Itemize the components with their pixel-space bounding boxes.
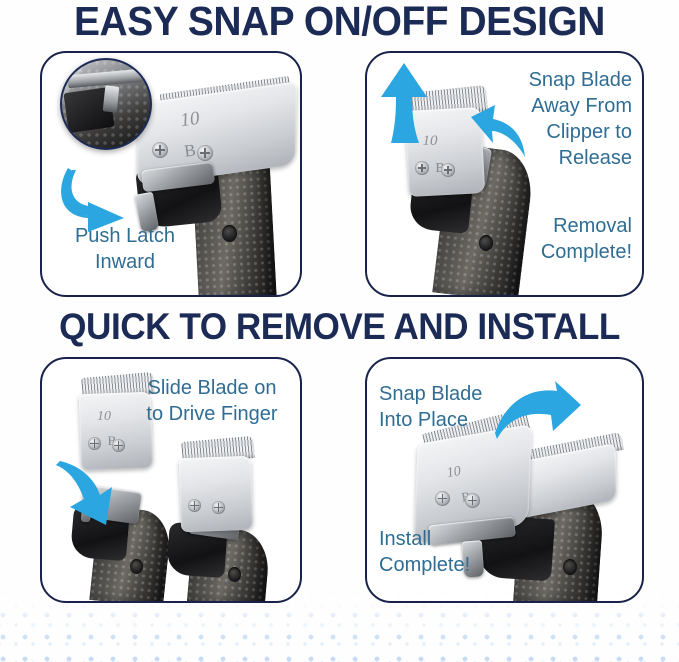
- blade-screw-right-1: [188, 499, 201, 512]
- magnifier-inset-latch-detail: [60, 58, 152, 150]
- blade-screw-left-1: [88, 437, 101, 450]
- caption-snap-blade-away: Snap Blade Away From Clipper to Release: [486, 67, 632, 171]
- inset-latch-tip: [103, 85, 120, 112]
- clipper-screw-hole-right: [228, 567, 241, 582]
- blade-screw-left: [435, 491, 450, 506]
- page-title-middle: QUICK TO REMOVE AND INSTALL: [17, 306, 662, 348]
- panel-snap-blade-into-place: 10 B Snap Blade Into Place Install Compl…: [365, 357, 644, 603]
- blade-screw-left: [415, 161, 429, 175]
- blade-screw-right: [441, 163, 455, 177]
- blade-screw-right: [197, 145, 213, 161]
- caption-slide-blade-on: Slide Blade on to Drive Finger: [132, 375, 292, 427]
- photo-slide-blade: 10 B Slide Blade on to Drive Finger: [42, 359, 300, 601]
- curved-arrow-down-icon: [56, 457, 118, 529]
- arrow-up-icon: [379, 63, 429, 145]
- blade-screw-right: [465, 493, 480, 508]
- blade-screw-right-2: [212, 501, 225, 514]
- blade-engraving-size-left: 10: [90, 409, 118, 425]
- caption-push-latch-inward: Push Latch Inward: [50, 223, 200, 275]
- photo-push-latch: 10 B Push Latch Inward: [42, 53, 300, 295]
- photo-remove-blade: 10 B Snap Blade Away From Clipper to Rel…: [367, 53, 642, 295]
- clipper-screw-hole: [222, 225, 237, 242]
- panel-slide-blade-on: 10 B Slide Blade on to Drive Finger: [40, 357, 302, 603]
- caption-removal-complete: Removal Complete!: [486, 213, 632, 265]
- panel-push-latch-inward: 10 B Push Latch Inward: [40, 51, 302, 297]
- page-title-top: EASY SNAP ON/OFF DESIGN: [17, 0, 662, 44]
- blade-plate-right: [179, 456, 254, 532]
- decorative-dot-pattern: [0, 590, 679, 662]
- panel-snap-blade-away: 10 B Snap Blade Away From Clipper to Rel…: [365, 51, 644, 297]
- blade-screw-left-2: [112, 439, 125, 452]
- clipper-screw-hole-left: [130, 559, 143, 574]
- infographic-root: EASY SNAP ON/OFF DESIGN 10 B: [0, 0, 679, 662]
- blade-screw-left: [152, 142, 168, 158]
- caption-snap-blade-into-place: Snap Blade Into Place: [379, 381, 519, 433]
- photo-install-blade: 10 B Snap Blade Into Place Install Compl…: [367, 359, 642, 601]
- caption-install-complete: Install Complete!: [379, 526, 519, 578]
- clipper-screw-hole: [563, 559, 577, 575]
